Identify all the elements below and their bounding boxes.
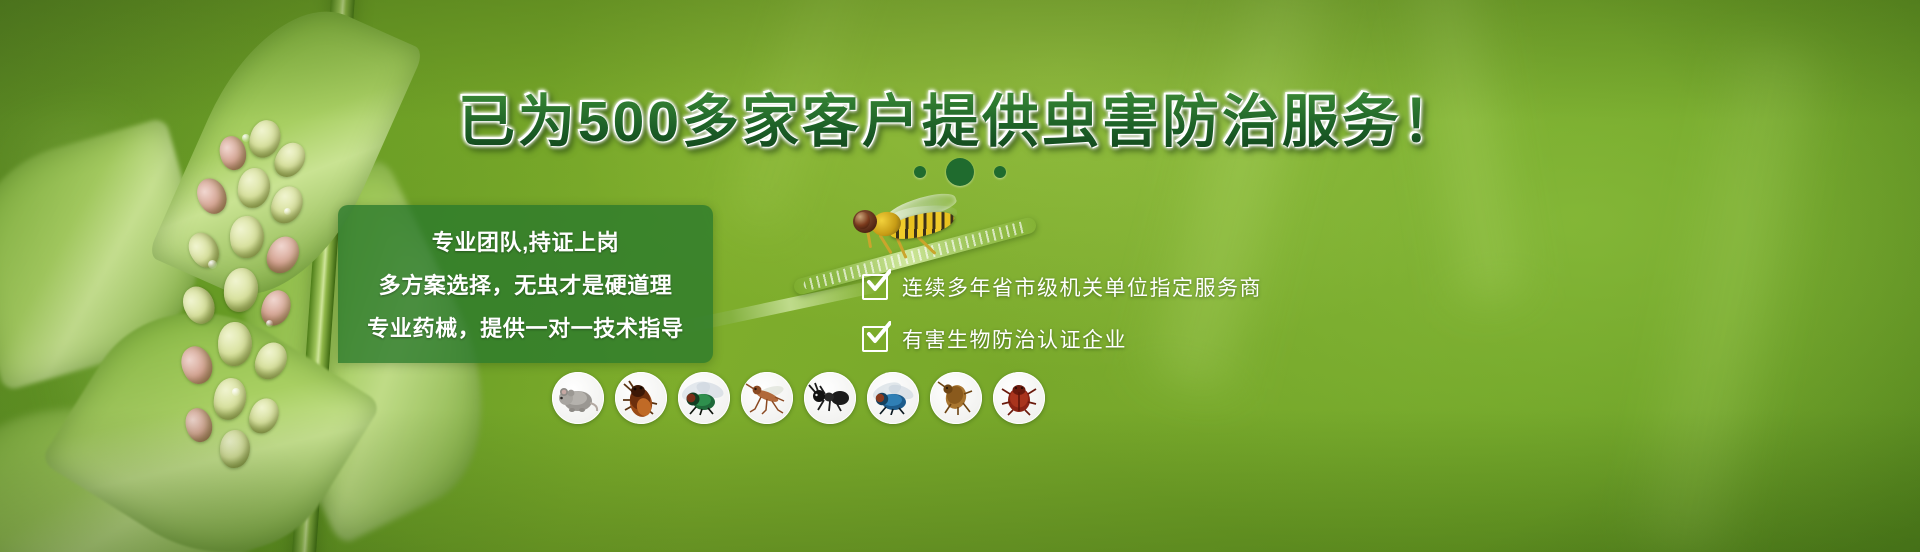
list-item: 连续多年省市级机关单位指定服务商: [862, 272, 1262, 302]
large-dot: [946, 158, 974, 186]
decorative-dots: [0, 158, 1920, 186]
credential-label: 有害生物防治认证企业: [902, 324, 1127, 354]
ant-icon: [804, 372, 856, 424]
checkbox-checked-icon: [862, 326, 888, 352]
mosquito-icon: [741, 372, 793, 424]
credential-label: 连续多年省市级机关单位指定服务商: [902, 272, 1262, 302]
pest-icon-row: [552, 372, 1045, 424]
page-title: 已为500多家客户提供虫害防治服务！: [0, 76, 1920, 158]
selling-point-line: 专业药械，提供一对一技术指导: [367, 311, 683, 343]
flea-icon: [930, 372, 982, 424]
small-dot: [994, 166, 1006, 178]
housefly-icon: [678, 372, 730, 424]
cockroach-icon: [615, 372, 667, 424]
bedbug-icon: [993, 372, 1045, 424]
selling-point-line: 专业团队,持证上岗: [432, 225, 620, 257]
selling-point-line: 多方案选择，无虫才是硬道理: [379, 268, 673, 300]
mouse-icon: [552, 372, 604, 424]
credential-list: 连续多年省市级机关单位指定服务商 有害生物防治认证企业: [862, 272, 1262, 354]
checkbox-checked-icon: [862, 274, 888, 300]
small-dot: [914, 166, 926, 178]
pest-control-banner: 已为500多家客户提供虫害防治服务！ 专业团队,持证上岗 多方案选择，无虫才是硬…: [0, 0, 1920, 552]
selling-points-panel: 专业团队,持证上岗 多方案选择，无虫才是硬道理 专业药械，提供一对一技术指导: [338, 205, 713, 363]
greenbottle-icon: [867, 372, 919, 424]
list-item: 有害生物防治认证企业: [862, 324, 1262, 354]
